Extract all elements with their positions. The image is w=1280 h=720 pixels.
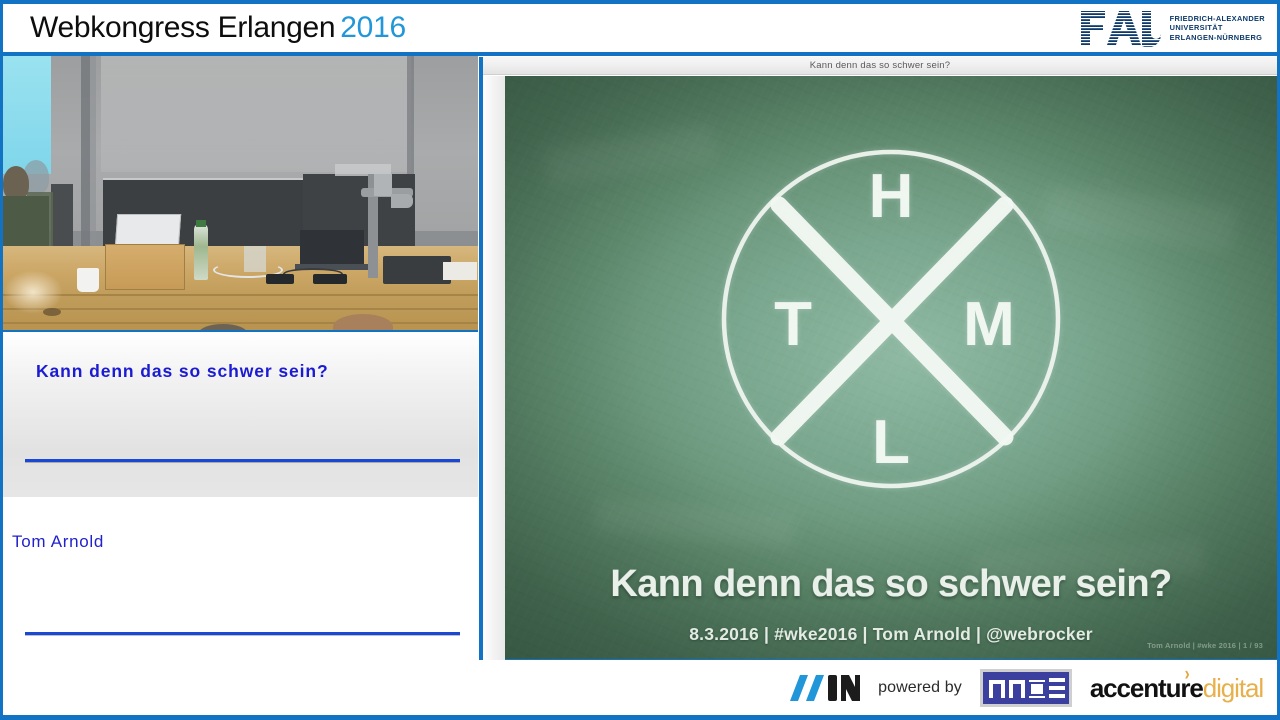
fau-logo: FRIEDRICH-ALEXANDER UNIVERSITÄT ERLANGEN… (1079, 5, 1265, 51)
video-cup (77, 268, 99, 292)
video-document-camera-lens (391, 194, 413, 208)
video-person-head (3, 166, 29, 200)
info-gradient-background (3, 332, 478, 497)
brand-main: Webkongress Erlangen (30, 11, 335, 44)
inf-logo-icon (980, 669, 1072, 707)
video-projection-screen (101, 56, 411, 172)
video-desk-seam (3, 322, 478, 324)
slide-title-text: Kann denn das so schwer sein? (36, 361, 329, 382)
video-laptop-dark (300, 230, 364, 268)
accenture-digital-logo: accenture digital › (1090, 675, 1263, 701)
svg-text:T: T (774, 290, 812, 359)
slide-gutter (483, 76, 505, 662)
video-bag (383, 256, 451, 284)
video-remote (266, 274, 294, 284)
accenture-arrow-icon: › (1184, 665, 1189, 684)
page-title: Webkongress Erlangen2016 (30, 11, 406, 45)
slide-titlebar: Kann denn das so schwer sein? (483, 57, 1277, 75)
page-footer: powered by (3, 660, 1277, 715)
accenture-suffix: digital (1203, 675, 1263, 701)
video-pillar-shadow (90, 56, 96, 278)
lecture-hall-video[interactable] (3, 56, 478, 332)
divider-bottom (25, 632, 460, 635)
video-desk-mark (43, 308, 61, 316)
fau-wordmark: FRIEDRICH-ALEXANDER UNIVERSITÄT ERLANGEN… (1170, 14, 1265, 42)
video-bottle-cap (196, 220, 206, 227)
svg-text:H: H (869, 162, 914, 231)
html-chalk-logo-icon: H T M L (717, 145, 1065, 493)
fau-line-2: UNIVERSITÄT (1170, 23, 1265, 32)
video-laptop-open (115, 214, 181, 248)
video-papers (443, 262, 477, 280)
video-water-bottle (194, 224, 208, 280)
video-pillar (81, 56, 90, 278)
slide-footnote: Tom Arnold | #wke 2016 | 1 / 93 (1147, 641, 1263, 650)
slide-info-panel: Kann denn das so schwer sein? Tom Arnold (3, 332, 478, 662)
video-cardboard-box (105, 244, 185, 290)
video-desk-seam (3, 294, 478, 296)
video-pillar-right (407, 56, 414, 184)
slide-headline: Kann denn das so schwer sein? (505, 563, 1277, 606)
powered-by-label: powered by (878, 679, 962, 697)
video-desk-seam (3, 308, 478, 310)
slide-pane[interactable]: Kann denn das so schwer sein? (479, 57, 1277, 662)
player-page: Webkongress Erlangen2016 (0, 0, 1280, 720)
video-remote (313, 274, 347, 284)
video-document-camera-head (374, 174, 392, 196)
svg-text:M: M (963, 290, 1015, 359)
fau-line-3: ERLANGEN-NÜRNBERG (1170, 33, 1265, 42)
svg-text:L: L (872, 408, 910, 477)
video-window (3, 56, 51, 174)
fau-mark-icon (1079, 9, 1161, 47)
divider-top (25, 459, 460, 462)
slide-canvas[interactable]: H T M L Kann denn das so schwer sein? 8.… (505, 76, 1277, 659)
wke-logo-icon (784, 671, 860, 705)
slide-titlebar-text: Kann denn das so schwer sein? (810, 60, 950, 71)
fau-line-1: FRIEDRICH-ALEXANDER (1170, 14, 1265, 23)
page-header: Webkongress Erlangen2016 (3, 4, 1277, 56)
speaker-name: Tom Arnold (12, 532, 104, 552)
left-column: Kann denn das so schwer sein? Tom Arnold (3, 56, 478, 664)
brand-year: 2016 (340, 11, 406, 44)
